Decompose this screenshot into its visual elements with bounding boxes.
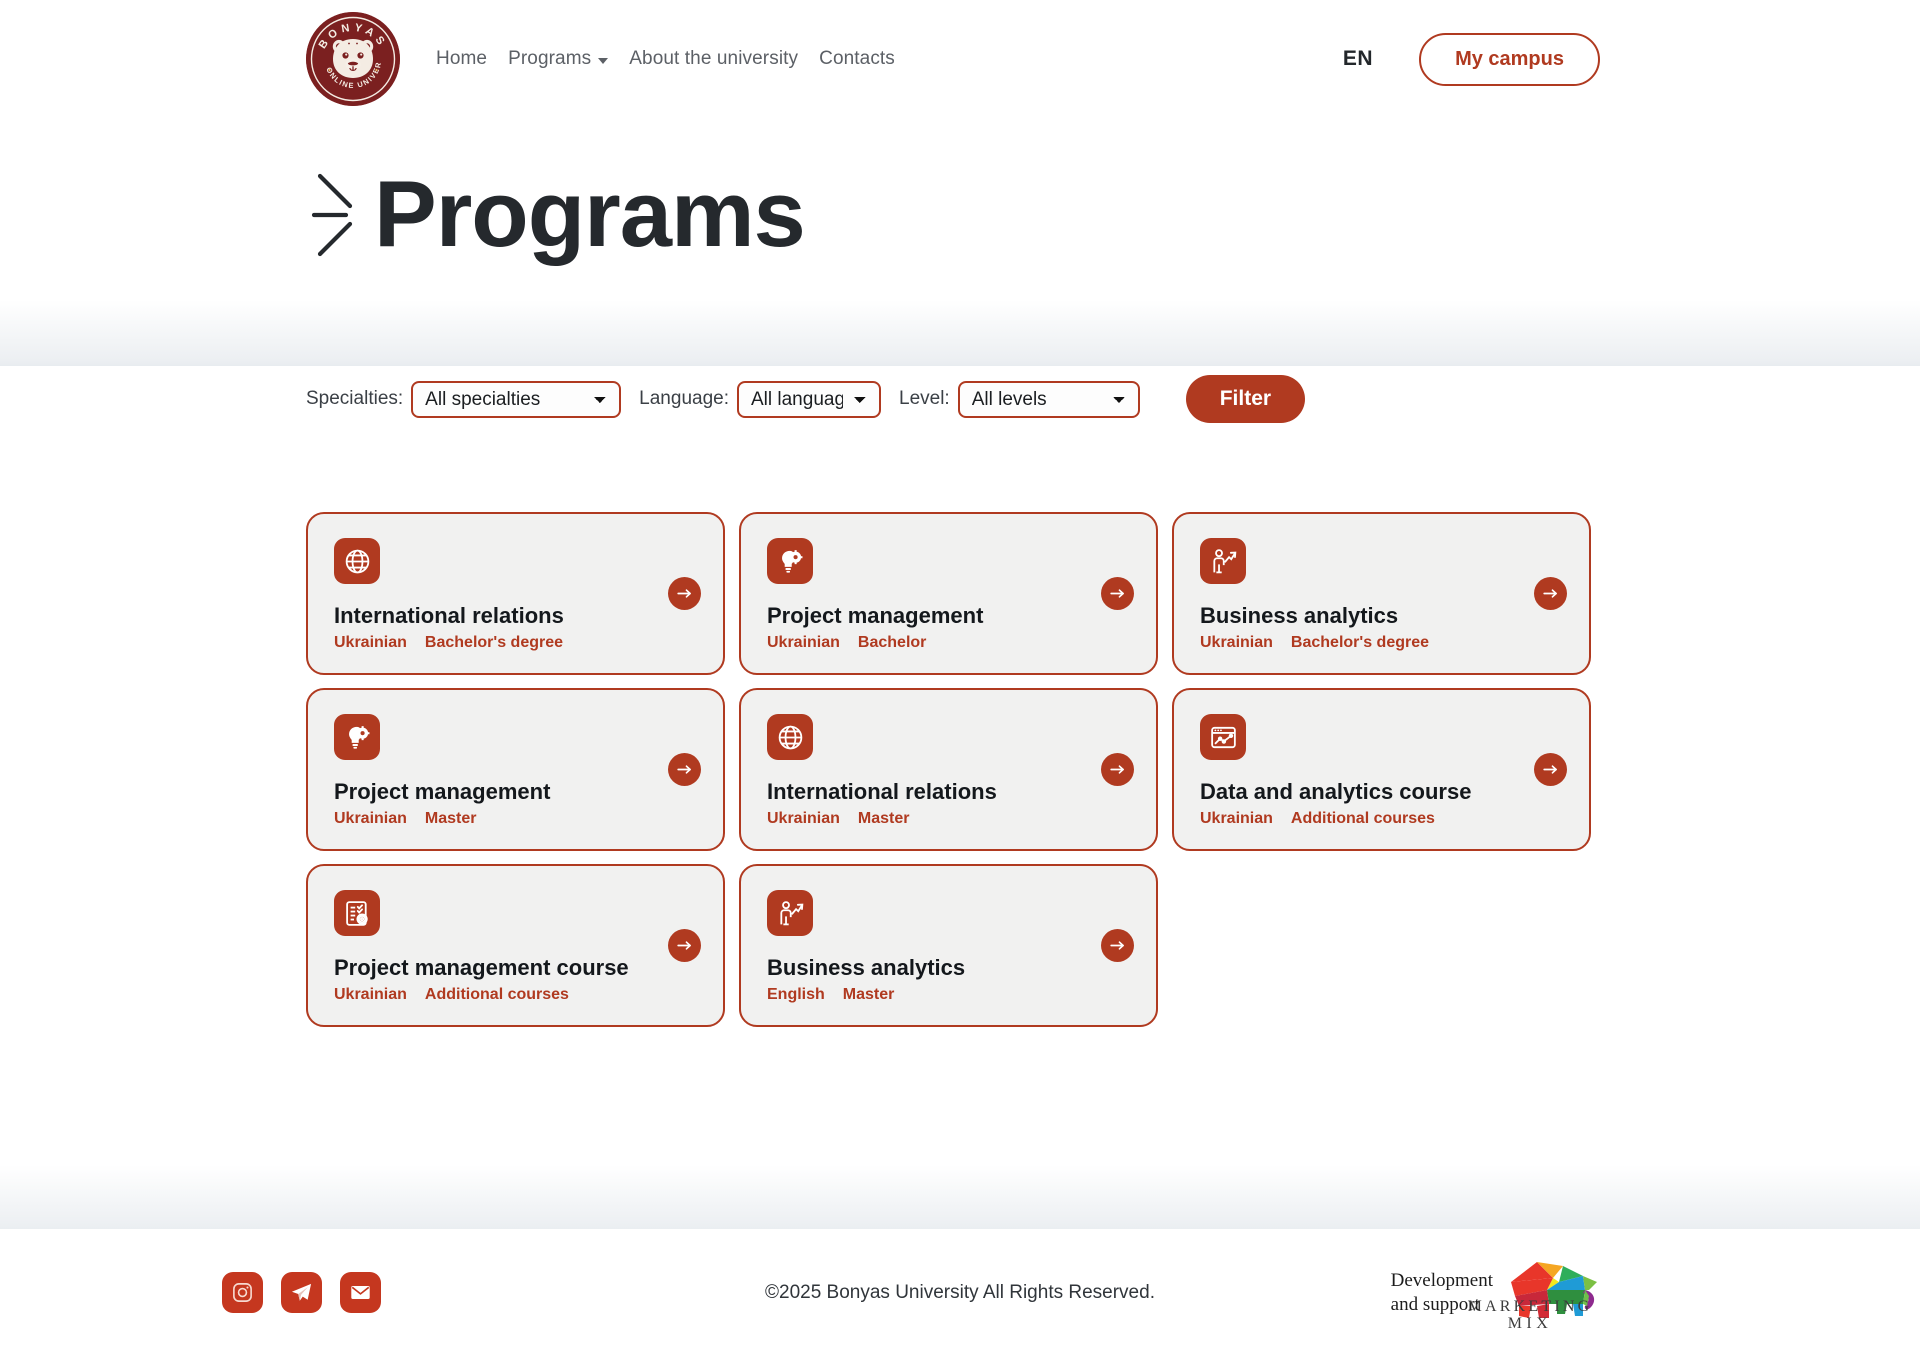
filter-language-label: Language: <box>639 388 729 410</box>
program-meta: English Master <box>767 986 1130 1004</box>
program-meta: Ukrainian Master <box>767 810 1130 828</box>
program-arrow-button[interactable] <box>1534 577 1567 610</box>
program-card[interactable]: Project management Ukrainian Bachelor <box>739 512 1158 675</box>
program-language: Ukrainian <box>1200 634 1273 652</box>
program-title: International relations <box>767 779 1130 804</box>
program-level: Bachelor's degree <box>425 634 563 652</box>
program-meta: Ukrainian Bachelor's degree <box>334 634 697 652</box>
program-language: Ukrainian <box>1200 810 1273 828</box>
globe-icon <box>334 538 380 584</box>
specialties-select[interactable]: All specialties <box>411 381 621 418</box>
program-meta: Ukrainian Additional courses <box>334 986 697 1004</box>
marketing-mix-wordmark: MARKETING MIX <box>1445 1298 1615 1333</box>
program-arrow-button[interactable] <box>668 753 701 786</box>
program-arrow-button[interactable] <box>1101 577 1134 610</box>
site-header: BONYAS ONLINE UNIVERSITY <box>0 0 1920 118</box>
level-select[interactable]: All levels <box>958 381 1140 418</box>
lightbulb-gear-icon <box>334 714 380 760</box>
program-card-grid: International relations Ukrainian Bachel… <box>306 512 1596 1027</box>
program-level: Master <box>858 810 910 828</box>
filter-language: Language: All languages <box>639 381 881 418</box>
filter-submit-button[interactable]: Filter <box>1186 375 1305 423</box>
program-card[interactable]: International relations Ukrainian Bachel… <box>306 512 725 675</box>
page-title-section: Programs <box>0 118 1920 288</box>
program-meta: Ukrainian Additional courses <box>1200 810 1563 828</box>
program-card[interactable]: Business analytics English Master <box>739 864 1158 1027</box>
program-card[interactable]: Project management course Ukrainian Addi… <box>306 864 725 1027</box>
program-language: Ukrainian <box>334 634 407 652</box>
page-title: Programs <box>374 167 805 261</box>
program-title: Project management <box>767 603 1130 628</box>
program-arrow-button[interactable] <box>1101 753 1134 786</box>
person-growth-chart-icon <box>1200 538 1246 584</box>
program-language: Ukrainian <box>767 634 840 652</box>
person-growth-chart-icon <box>767 890 813 936</box>
lightbulb-gear-icon <box>767 538 813 584</box>
program-level: Bachelor's degree <box>1291 634 1429 652</box>
site-logo[interactable]: BONYAS ONLINE UNIVERSITY <box>306 12 400 106</box>
filter-level-label: Level: <box>899 388 950 410</box>
program-title: Project management course <box>334 955 697 980</box>
program-card[interactable]: Data and analytics course Ukrainian Addi… <box>1172 688 1591 851</box>
section-divider-bottom <box>0 1165 1920 1229</box>
marketing-mix-logo[interactable]: MARKETING MIX <box>1497 1256 1615 1330</box>
nav-contacts[interactable]: Contacts <box>819 48 895 70</box>
nav-home[interactable]: Home <box>436 48 487 70</box>
site-footer: ©2025 Bonyas University All Rights Reser… <box>0 1229 1920 1356</box>
program-title: Project management <box>334 779 697 804</box>
program-arrow-button[interactable] <box>668 929 701 962</box>
filter-specialties-label: Specialties: <box>306 388 403 410</box>
program-card[interactable]: Business analytics Ukrainian Bachelor's … <box>1172 512 1591 675</box>
dev-support-line1: Development <box>1391 1269 1493 1292</box>
program-title: International relations <box>334 603 697 628</box>
program-meta: Ukrainian Bachelor <box>767 634 1130 652</box>
my-campus-button[interactable]: My campus <box>1419 33 1600 86</box>
program-arrow-button[interactable] <box>1101 929 1134 962</box>
filter-bar: Specialties: All specialties Language: A… <box>306 378 1920 420</box>
chart-window-icon <box>1200 714 1246 760</box>
nav-about[interactable]: About the university <box>629 48 798 70</box>
program-level: Master <box>425 810 477 828</box>
bear-face-icon <box>333 39 373 78</box>
program-language: Ukrainian <box>334 810 407 828</box>
chevron-down-icon <box>598 58 608 64</box>
program-language: Ukrainian <box>334 986 407 1004</box>
section-divider-top <box>0 300 1920 366</box>
program-level: Bachelor <box>858 634 926 652</box>
program-level: Master <box>843 986 895 1004</box>
program-level: Additional courses <box>425 986 569 1004</box>
filter-specialties: Specialties: All specialties <box>306 381 621 418</box>
program-arrow-button[interactable] <box>1534 753 1567 786</box>
program-title: Business analytics <box>767 955 1130 980</box>
globe-icon <box>767 714 813 760</box>
spark-decoration-icon <box>306 166 364 262</box>
marketing-mix-line2: MIX <box>1445 1315 1615 1332</box>
program-title: Business analytics <box>1200 603 1563 628</box>
filter-level: Level: All levels <box>899 381 1140 418</box>
nav-programs[interactable]: Programs <box>508 48 608 70</box>
language-switcher[interactable]: EN <box>1343 47 1373 71</box>
checklist-gear-icon <box>334 890 380 936</box>
program-meta: Ukrainian Bachelor's degree <box>1200 634 1563 652</box>
program-level: Additional courses <box>1291 810 1435 828</box>
program-card[interactable]: International relations Ukrainian Master <box>739 688 1158 851</box>
marketing-mix-line1: MARKETING <box>1468 1298 1593 1315</box>
main-content: Specialties: All specialties Language: A… <box>0 378 1920 1027</box>
program-arrow-button[interactable] <box>668 577 701 610</box>
development-support: Development and support <box>1391 1256 1860 1330</box>
main-navigation: Home Programs About the university Conta… <box>436 48 895 70</box>
program-card[interactable]: Project management Ukrainian Master <box>306 688 725 851</box>
nav-programs-label: Programs <box>508 48 591 70</box>
program-title: Data and analytics course <box>1200 779 1563 804</box>
header-actions: EN My campus <box>1343 33 1860 86</box>
program-language: English <box>767 986 825 1004</box>
program-language: Ukrainian <box>767 810 840 828</box>
program-meta: Ukrainian Master <box>334 810 697 828</box>
language-select[interactable]: All languages <box>737 381 881 418</box>
